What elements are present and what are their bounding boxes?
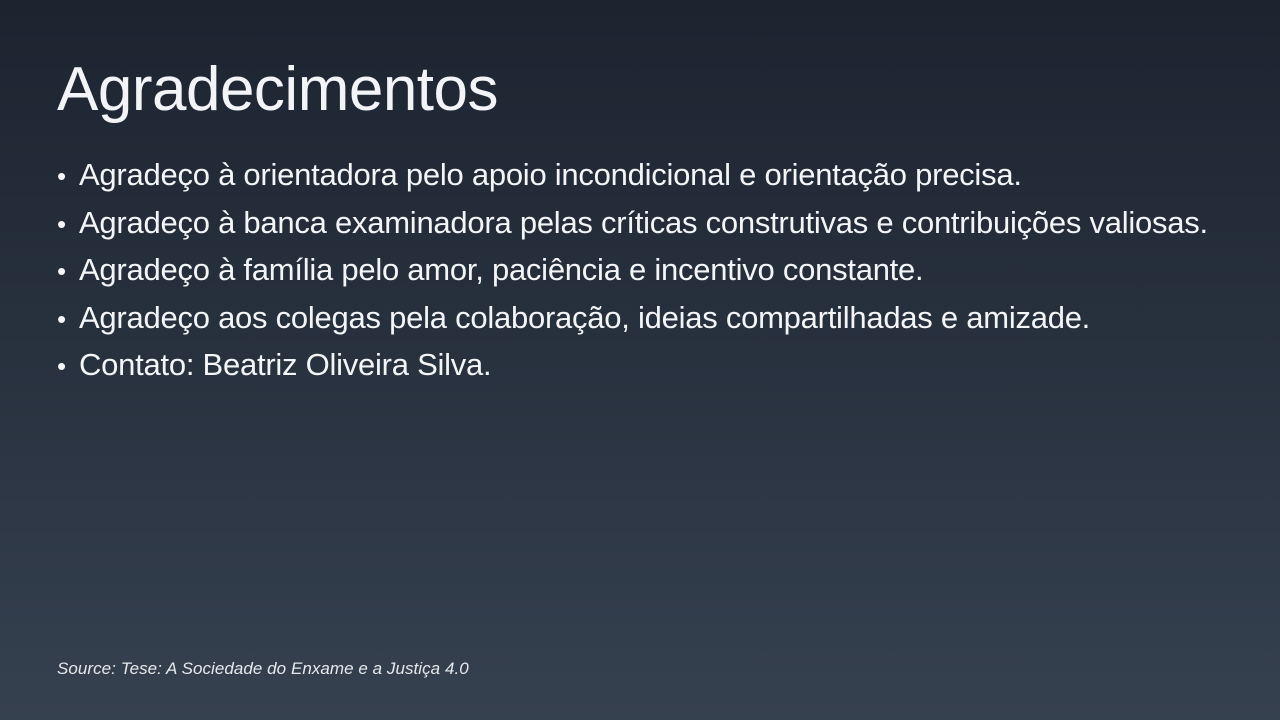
list-item: •Agradeço à família pelo amor, paciência… bbox=[57, 247, 1219, 294]
list-item-text: Agradeço à orientadora pelo apoio incond… bbox=[79, 157, 1022, 192]
bullet-point-icon: • bbox=[57, 296, 79, 342]
bullet-list: •Agradeço à orientadora pelo apoio incon… bbox=[57, 152, 1219, 390]
source-caption: Source: Tese: A Sociedade do Enxame e a … bbox=[57, 657, 469, 681]
list-item-text: Contato: Beatriz Oliveira Silva. bbox=[79, 347, 491, 382]
list-item: •Agradeço à orientadora pelo apoio incon… bbox=[57, 152, 1219, 199]
list-item-text: Agradeço aos colegas pela colaboração, i… bbox=[79, 300, 1090, 335]
presentation-slide: Agradecimentos •Agradeço à orientadora p… bbox=[0, 0, 1280, 720]
bullet-point-icon: • bbox=[57, 248, 79, 294]
list-item: •Agradeço à banca examinadora pelas crít… bbox=[57, 200, 1219, 247]
list-item-text: Agradeço à banca examinadora pelas críti… bbox=[79, 205, 1208, 240]
page-title: Agradecimentos bbox=[57, 55, 1217, 124]
list-item-text: Agradeço à família pelo amor, paciência … bbox=[79, 252, 923, 287]
list-item: •Agradeço aos colegas pela colaboração, … bbox=[57, 295, 1219, 342]
bullet-point-icon: • bbox=[57, 343, 79, 389]
bullet-point-icon: • bbox=[57, 201, 79, 247]
list-item: •Contato: Beatriz Oliveira Silva. bbox=[57, 342, 1219, 389]
bullet-point-icon: • bbox=[57, 153, 79, 199]
